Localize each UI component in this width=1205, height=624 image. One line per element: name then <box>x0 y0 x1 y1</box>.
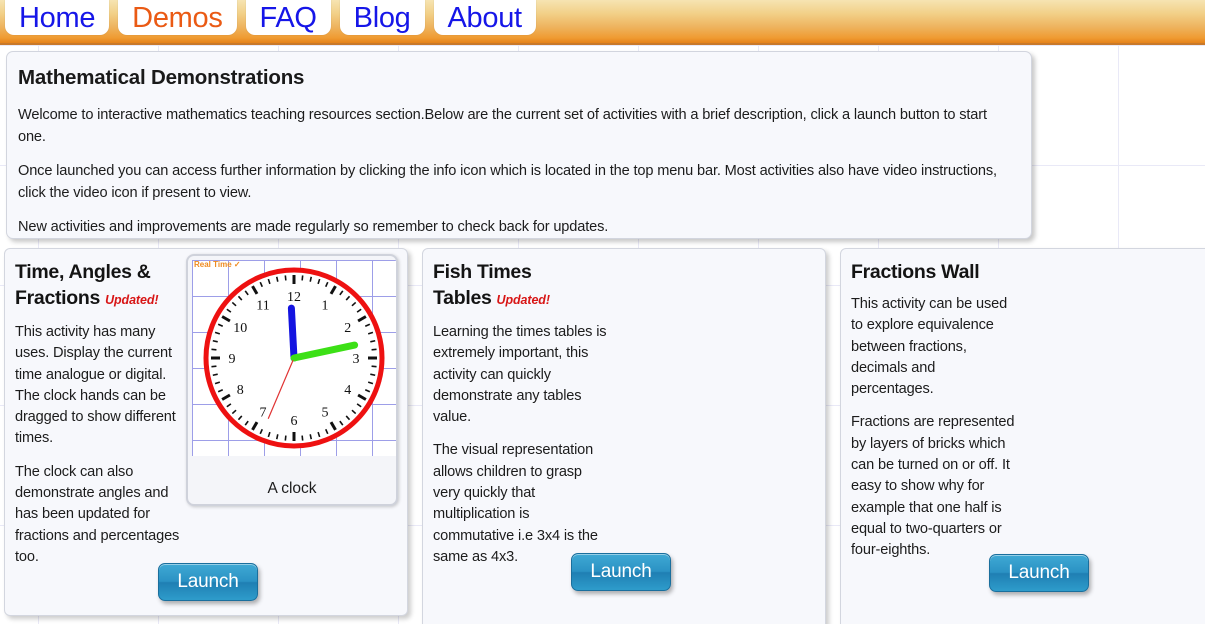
real-time-label: Real Time ✓ <box>194 260 241 269</box>
clock-caption: A clock <box>188 480 396 498</box>
activity-card-time-angles-fractions: Time, Angles & FractionsUpdated! This ac… <box>4 248 408 616</box>
nav-tab-blog[interactable]: Blog <box>340 0 425 35</box>
svg-text:1: 1 <box>322 298 329 313</box>
nav-tab-demos[interactable]: Demos <box>118 0 236 35</box>
launch-button-fractions-wall[interactable]: Launch <box>989 554 1089 592</box>
card-title: Time, Angles & FractionsUpdated! <box>5 249 195 313</box>
card-title-text: Fractions Wall <box>851 261 979 283</box>
card-paragraph-2: The clock can also demonstrate angles an… <box>15 462 191 568</box>
clock-face-svg: 121234567891011 <box>192 260 396 456</box>
card-paragraph-1: This activity has many uses. Display the… <box>15 322 191 450</box>
launch-button-times-tables[interactable]: Launch <box>571 553 671 591</box>
card-description: Learning the times tables is extremely i… <box>423 313 619 568</box>
card-paragraph-1: Learning the times tables is extremely i… <box>433 322 609 428</box>
nav-tab-home[interactable]: Home <box>5 0 109 35</box>
card-description: This activity has many uses. Display the… <box>5 313 201 568</box>
intro-paragraph-2: Once launched you can access further inf… <box>18 161 1017 204</box>
page-title: Mathematical Demonstrations <box>18 66 1017 90</box>
clock-thumbnail[interactable]: Real Time ✓ 121234567891011 A clock <box>186 254 398 506</box>
svg-text:2: 2 <box>344 321 351 336</box>
activity-card-fractions-wall: Fractions Wall This activity can be used… <box>840 248 1205 624</box>
activity-card-fish-times-tables: Fish Times TablesUpdated! Learning the t… <box>422 248 826 624</box>
launch-button-clock[interactable]: Launch <box>158 563 258 601</box>
svg-text:11: 11 <box>256 298 269 313</box>
card-paragraph-2: Fractions are represented by layers of b… <box>851 412 1017 561</box>
svg-text:10: 10 <box>233 321 247 336</box>
main-navigation: Home Demos FAQ Blog About <box>0 0 1205 45</box>
svg-text:5: 5 <box>322 406 329 421</box>
svg-text:3: 3 <box>353 352 360 367</box>
svg-text:7: 7 <box>260 406 267 421</box>
page-root: Home Demos FAQ Blog About Mathematical D… <box>0 0 1205 624</box>
svg-text:4: 4 <box>344 383 351 398</box>
intro-paragraph-3: New activities and improvements are made… <box>18 217 1017 239</box>
card-paragraph-1: This activity can be used to explore equ… <box>851 294 1017 400</box>
card-title: Fractions Wall <box>841 249 1091 285</box>
updated-badge: Updated! <box>497 293 550 307</box>
intro-panel: Mathematical Demonstrations Welcome to i… <box>6 51 1032 239</box>
card-title: Fish Times TablesUpdated! <box>423 249 613 313</box>
card-description: This activity can be used to explore equ… <box>841 285 1027 562</box>
updated-badge: Updated! <box>105 293 158 307</box>
svg-text:8: 8 <box>237 383 244 398</box>
nav-tab-faq[interactable]: FAQ <box>246 0 331 35</box>
card-paragraph-2: The visual representation allows childre… <box>433 440 609 568</box>
svg-text:9: 9 <box>229 352 236 367</box>
svg-text:12: 12 <box>287 290 301 305</box>
nav-tab-about[interactable]: About <box>434 0 536 35</box>
svg-text:6: 6 <box>291 414 298 429</box>
intro-paragraph-1: Welcome to interactive mathematics teach… <box>18 105 1017 148</box>
